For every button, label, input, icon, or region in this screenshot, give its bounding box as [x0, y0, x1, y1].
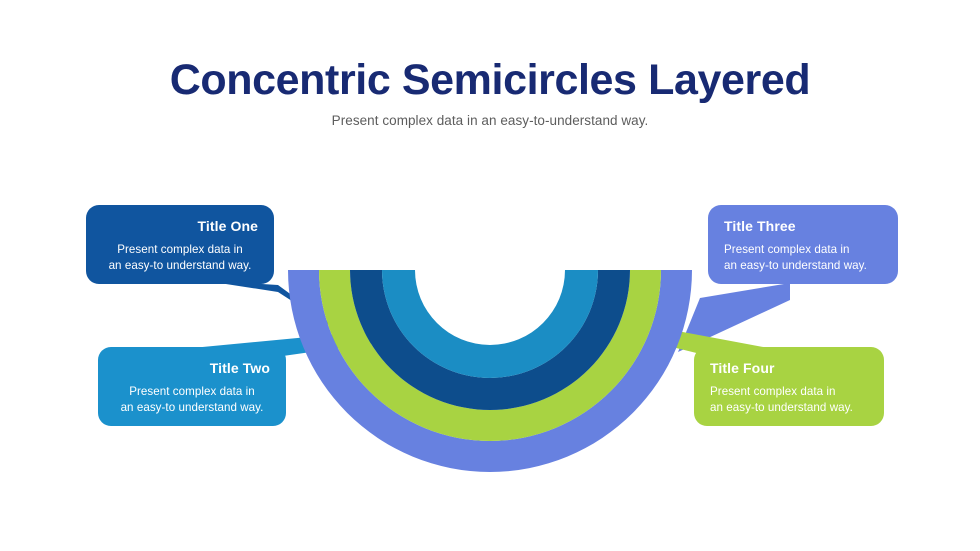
card-title-three[interactable]: Title Three Present complex data in an e… — [708, 205, 898, 284]
card-three-body: Present complex data in an easy-to under… — [724, 242, 882, 274]
card-title-two[interactable]: Title Two Present complex data in an eas… — [98, 347, 286, 426]
card-two-body-line-1: Present complex data in — [114, 384, 270, 400]
card-title-one[interactable]: Title One Present complex data in an eas… — [86, 205, 274, 284]
card-three-body-line-2: an easy-to understand way. — [724, 258, 882, 274]
card-title-four[interactable]: Title Four Present complex data in an ea… — [694, 347, 884, 426]
card-one-body-line-2: an easy-to understand way. — [102, 258, 258, 274]
card-four-title: Title Four — [710, 360, 868, 377]
slide-canvas: Concentric Semicircles Layered Present c… — [0, 0, 980, 551]
card-four-body-line-1: Present complex data in — [710, 384, 868, 400]
card-two-title: Title Two — [114, 360, 270, 377]
card-three-title: Title Three — [724, 218, 882, 235]
card-one-title: Title One — [102, 218, 258, 235]
card-one-body-line-1: Present complex data in — [102, 242, 258, 258]
card-two-body-line-2: an easy-to understand way. — [114, 400, 270, 416]
card-one-body: Present complex data in an easy-to under… — [102, 242, 258, 274]
card-four-body: Present complex data in an easy-to under… — [710, 384, 868, 416]
card-two-body: Present complex data in an easy-to under… — [114, 384, 270, 416]
card-four-body-line-2: an easy-to understand way. — [710, 400, 868, 416]
card-three-body-line-1: Present complex data in — [724, 242, 882, 258]
